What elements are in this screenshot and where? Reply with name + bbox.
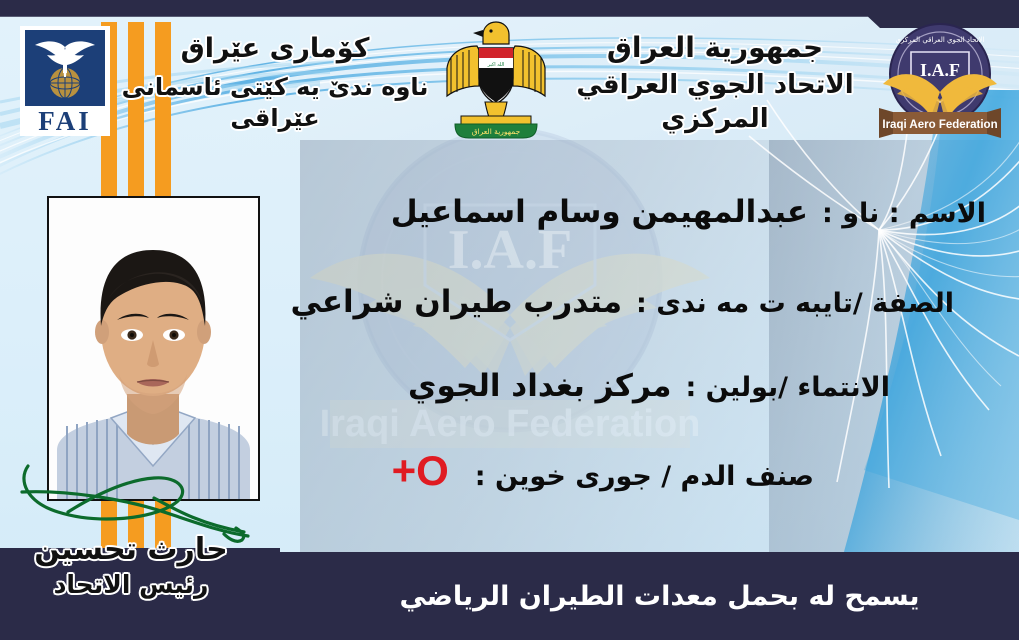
field-value-name: عبدالمهيمن وسام اسماعيل [391, 194, 808, 230]
fai-logo: FAI [20, 26, 110, 136]
card-fields: الاسم : ناو : عبدالمهيمن وسام اسماعيل ال… [300, 170, 1000, 550]
field-label-name: الاسم : ناو : [822, 198, 986, 229]
emblem-scroll-text: جمهورية العراق [472, 127, 521, 136]
fai-logo-text: FAI [38, 106, 92, 136]
header-kurdish: كۆمارى عێراق ناوه‌ ندێ يه‌ كێتى ئاسمانى … [110, 28, 440, 138]
field-value-affiliation: مركز بغداد الجوي [408, 368, 671, 404]
header-arabic: جمهورية العراق الاتحاد الجوي العراقي الم… [555, 28, 875, 138]
signature-name: حارث تحسين [0, 532, 262, 567]
field-row-name: الاسم : ناو : عبدالمهيمن وسام اسماعيل [300, 194, 1000, 230]
iraq-state-emblem: الله اكبر جمهورية العراق [437, 16, 555, 142]
portrait-photo [47, 196, 260, 501]
federation-logo: الاتحاد الجوي العراقي المركزي I.A.F Iraq… [875, 16, 1005, 146]
federation-arc-text: الاتحاد الجوي العراقي المركزي [895, 36, 984, 44]
field-label-title: الصفة /تايبه ت مه ندى : [636, 288, 954, 319]
header-arabic-line2: الاتحاد الجوي العراقي المركزي [555, 69, 875, 137]
field-row-title: الصفة /تايبه ت مه ندى : متدرب طيران شراع… [300, 284, 1000, 320]
field-value-blood-type: O+ [392, 450, 449, 492]
eagle-of-saladin-emblem: الله اكبر جمهورية العراق [437, 16, 555, 142]
field-row-blood-type: صنف الدم / جورى خوين : O+ [300, 450, 1000, 492]
field-label-blood-type: صنف الدم / جورى خوين : [475, 461, 814, 492]
header-arabic-line1: جمهورية العراق [555, 30, 875, 65]
federation-monogram-text: I.A.F [920, 60, 960, 80]
signature-title: رئيس الاتحاد [0, 570, 262, 599]
fai-bird-globe-icon [29, 33, 101, 103]
header-kurdish-line1: كۆمارى عێراق [110, 32, 440, 66]
header-kurdish-line2: ناوه‌ ندێ يه‌ كێتى ئاسمانى عێراقى [110, 72, 440, 134]
fai-emblem-box [25, 30, 105, 106]
field-value-title: متدرب طيران شراعي [291, 284, 623, 320]
field-row-affiliation: الانتماء /بولين : مركز بغداد الجوي [300, 368, 1000, 404]
svg-text:الله اكبر: الله اكبر [487, 62, 505, 68]
federation-ribbon-text: Iraqi Aero Federation [882, 119, 997, 131]
field-label-affiliation: الانتماء /بولين : [685, 372, 890, 403]
id-card: I.A.F Iraqi Aero Federation [0, 0, 1019, 640]
